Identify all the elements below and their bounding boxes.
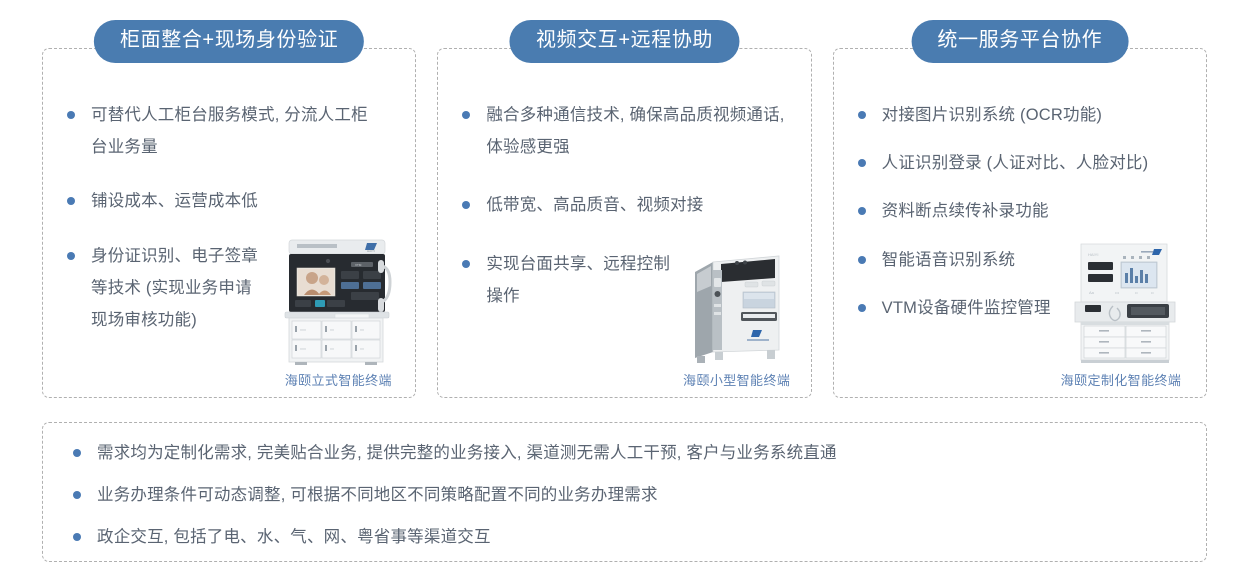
bullet-text: 融合多种通信技术, 确保高品质视频通话, 体验感更强 <box>486 106 784 156</box>
list-item: 需求均为定制化需求, 完美贴合业务, 提供完整的业务接入, 渠道测无需人工干预,… <box>65 441 1186 466</box>
bullet-text: 需求均为定制化需求, 完美贴合业务, 提供完整的业务接入, 渠道测无需人工干预,… <box>97 444 837 462</box>
bullet-text: 资料断点续传补录功能 <box>882 202 1049 220</box>
bullet-dot-icon <box>858 159 866 167</box>
bullet-text: 实现台面共享、远程控制操作 <box>486 255 670 305</box>
column-3-bullet-list: 对接图片识别系统 (OCR功能) 人证识别登录 (人证对比、人脸对比) 资料断点… <box>850 99 1194 324</box>
bullet-text: 人证识别登录 (人证对比、人脸对比) <box>882 154 1149 172</box>
svg-text:XX: XX <box>330 347 334 351</box>
bullet-dot-icon <box>462 201 470 209</box>
bullet-text: 身份证识别、电子签章等技术 (实现业务申请现场审核功能) <box>91 247 258 329</box>
bullet-dot-icon <box>462 260 470 268</box>
list-item: 政企交互, 包括了电、水、气、网、粤省事等渠道交互 <box>65 525 1186 550</box>
bullet-dot-icon <box>858 207 866 215</box>
bullet-text: 铺设成本、运营成本低 <box>91 192 258 210</box>
feature-column-2: 视频交互+远程协助 融合多种通信技术, 确保高品质视频通话, 体验感更强 低带宽… <box>437 48 811 398</box>
column-2-device-caption: 海颐小型智能终端 <box>677 370 797 389</box>
bullet-dot-icon <box>858 111 866 119</box>
list-item: 实现台面共享、远程控制操作 <box>454 248 676 312</box>
feature-columns: 柜面整合+现场身份验证 可替代人工柜台服务模式, 分流人工柜台业务量 铺设成本、… <box>42 48 1207 398</box>
bullet-dot-icon <box>858 256 866 264</box>
list-item: 资料断点续传补录功能 <box>850 195 1182 227</box>
column-1-bullet-list: 可替代人工柜台服务模式, 分流人工柜台业务量 铺设成本、运营成本低 身份证识别、… <box>59 99 403 336</box>
list-item: 人证识别登录 (人证对比、人脸对比) <box>850 147 1182 179</box>
diagram-canvas: 柜面整合+现场身份验证 可替代人工柜台服务模式, 分流人工柜台业务量 铺设成本、… <box>0 0 1241 586</box>
list-item: VTM设备硬件监控管理 <box>850 292 1067 324</box>
bullet-text: 政企交互, 包括了电、水、气、网、粤省事等渠道交互 <box>97 528 491 546</box>
column-1-device-caption: 海颐立式智能终端 <box>273 370 403 389</box>
bullet-text: 低带宽、高品质音、视频对接 <box>486 196 703 214</box>
feature-column-3: 统一服务平台协作 对接图片识别系统 (OCR功能) 人证识别登录 (人证对比、人… <box>833 48 1207 398</box>
list-item: 智能语音识别系统 <box>850 244 1182 276</box>
feature-column-1: 柜面整合+现场身份验证 可替代人工柜台服务模式, 分流人工柜台业务量 铺设成本、… <box>42 48 416 398</box>
bullet-dot-icon <box>67 111 75 119</box>
list-item: 身份证识别、电子签章等技术 (实现业务申请现场审核功能) <box>59 240 266 337</box>
list-item: 可替代人工柜台服务模式, 分流人工柜台业务量 <box>59 99 377 163</box>
bullet-text: 对接图片识别系统 (OCR功能) <box>882 106 1102 124</box>
summary-bullet-list: 需求均为定制化需求, 完美贴合业务, 提供完整的业务接入, 渠道测无需人工干预,… <box>65 441 1186 549</box>
column-3-device-caption: 海颐定制化智能终端 <box>1046 370 1196 389</box>
bullet-text: VTM设备硬件监控管理 <box>882 299 1051 317</box>
svg-text:XX: XX <box>360 347 364 351</box>
bullet-text: 业务办理条件可动态调整, 可根据不同地区不同策略配置不同的业务办理需求 <box>97 486 658 504</box>
column-3-title: 统一服务平台协作 <box>911 20 1128 63</box>
list-item: 业务办理条件可动态调整, 可根据不同地区不同策略配置不同的业务办理需求 <box>65 483 1186 508</box>
bullet-dot-icon <box>73 491 81 499</box>
bullet-dot-icon <box>462 111 470 119</box>
bullet-dot-icon <box>67 197 75 205</box>
summary-box: 需求均为定制化需求, 完美贴合业务, 提供完整的业务接入, 渠道测无需人工干预,… <box>42 422 1207 562</box>
column-1-title: 柜面整合+现场身份验证 <box>94 20 364 63</box>
list-item: 对接图片识别系统 (OCR功能) <box>850 99 1182 131</box>
column-2-bullet-list: 融合多种通信技术, 确保高品质视频通话, 体验感更强 低带宽、高品质音、视频对接… <box>454 99 798 312</box>
bullet-dot-icon <box>73 533 81 541</box>
bullet-dot-icon <box>858 304 866 312</box>
bullet-text: 可替代人工柜台服务模式, 分流人工柜台业务量 <box>91 106 368 156</box>
column-2-title: 视频交互+远程协助 <box>510 20 739 63</box>
bullet-dot-icon <box>67 252 75 260</box>
list-item: 低带宽、高品质音、视频对接 <box>454 189 786 221</box>
bullet-text: 智能语音识别系统 <box>882 251 1016 269</box>
list-item: 融合多种通信技术, 确保高品质视频通话, 体验感更强 <box>454 99 786 163</box>
list-item: 铺设成本、运营成本低 <box>59 185 377 217</box>
svg-text:XXX: XXX <box>300 347 306 351</box>
bullet-dot-icon <box>73 449 81 457</box>
